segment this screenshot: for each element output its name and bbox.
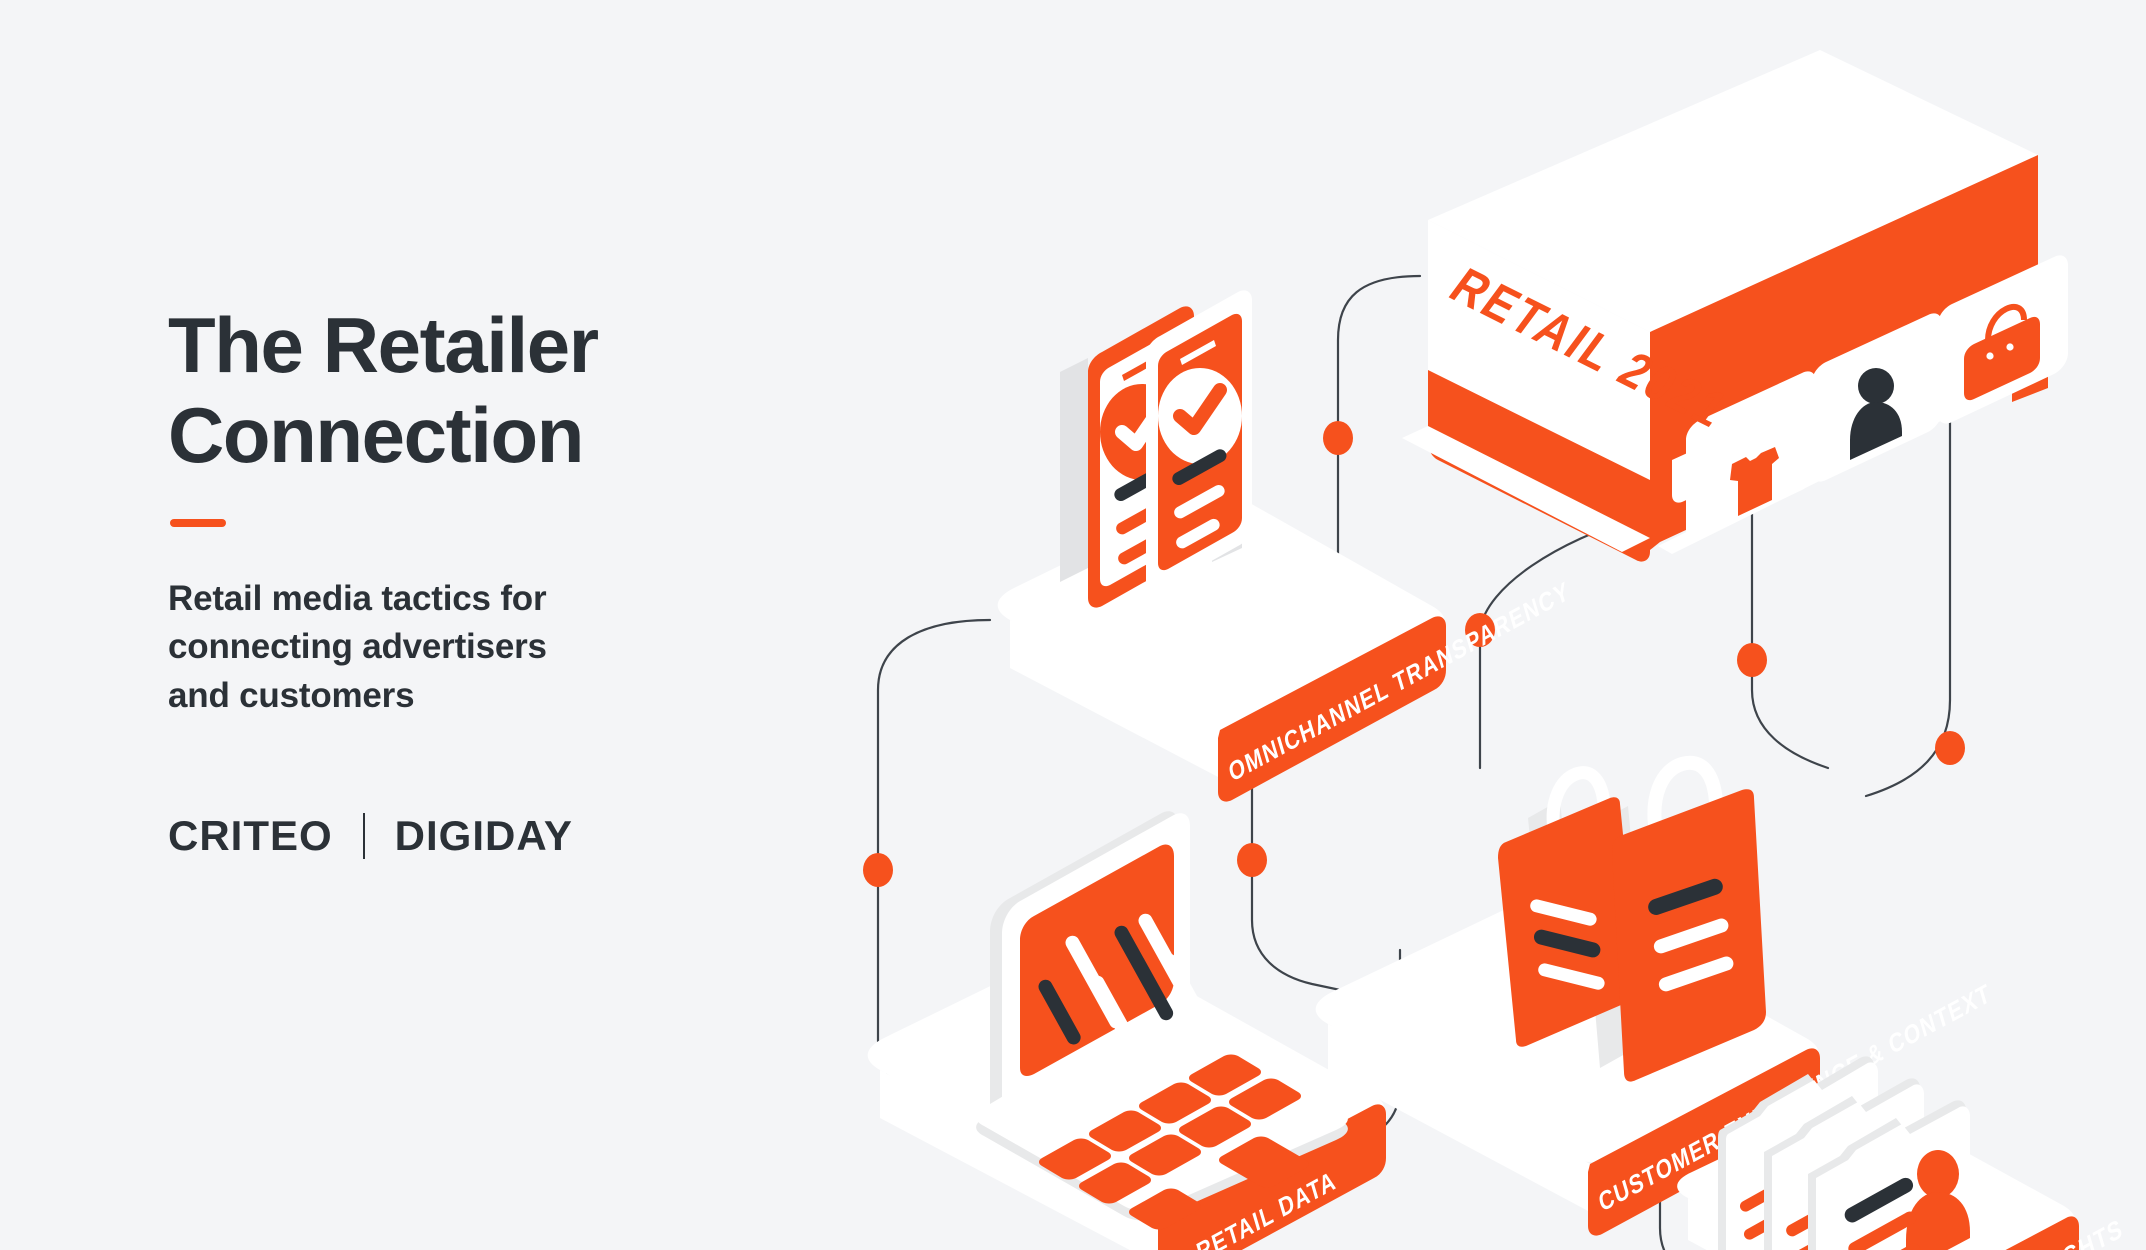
subhead-line-3: and customers (168, 676, 414, 715)
criteo-logo: CRITEO (168, 812, 333, 860)
subhead-line-2: connecting advertisers (168, 627, 547, 666)
connector-dot (863, 853, 893, 887)
connector-dot (1935, 731, 1965, 765)
accent-rule (170, 519, 226, 527)
headline-line-2: Connection (168, 391, 583, 479)
phone-shadow-left (1060, 358, 1088, 582)
shopping-bag-dot-icon (1986, 352, 1993, 359)
page-title: The Retailer Connection (168, 300, 848, 481)
isometric-illustration: RETAIL 2021 OMNICHANNEL TRANSPARENCY (860, 40, 2146, 1250)
connector-dot (1323, 421, 1353, 455)
headline-line-1: The Retailer (168, 301, 598, 389)
connector-dot (1737, 643, 1767, 677)
platform-retail-data: RETAIL DATA (868, 811, 1386, 1250)
avatar-head-icon (1917, 1150, 1959, 1198)
subhead-line-1: Retail media tactics for (168, 579, 546, 618)
digiday-logo: DIGIDAY (395, 812, 573, 860)
poster-canvas: The Retailer Connection Retail media tac… (0, 0, 2146, 1250)
page-subtitle: Retail media tactics for connecting adve… (168, 575, 768, 720)
shopping-bag-dot-icon (2006, 343, 2013, 350)
text-panel: The Retailer Connection Retail media tac… (168, 300, 848, 860)
storefront-illustration: RETAIL 2021 (1402, 50, 2068, 588)
person-icon-head (1858, 368, 1894, 404)
connector-dot (1237, 843, 1267, 877)
shopping-bag-right-icon (1612, 763, 1766, 1082)
logo-divider (363, 813, 365, 859)
logo-row: CRITEO DIGIDAY (168, 812, 848, 860)
phone-right-icon (1146, 290, 1252, 591)
